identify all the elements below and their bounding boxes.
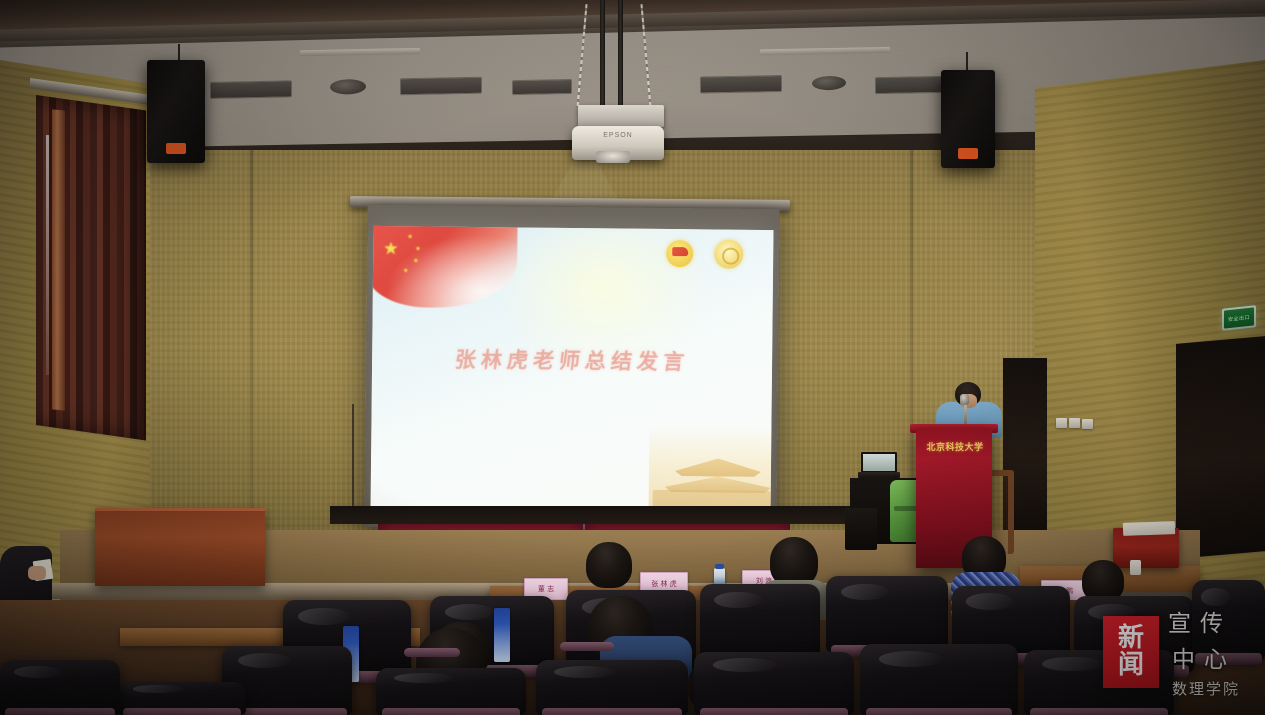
seat-armrest (404, 648, 460, 657)
ceiling-dome-fixture (812, 76, 846, 91)
flag-star-large: ★ (383, 240, 398, 257)
doorway-right[interactable] (1176, 336, 1265, 559)
seat-highlight (133, 685, 184, 692)
seat-highlight (238, 653, 290, 668)
flag-star-small: ★ (415, 246, 420, 252)
light-switch-plate[interactable] (1082, 419, 1093, 429)
water-bottle-blue (494, 608, 510, 662)
flag-star-small: ★ (413, 258, 418, 264)
seat-highlight (445, 604, 495, 621)
auditorium-seat[interactable] (536, 660, 688, 715)
projector-brand-label: EPSON (586, 131, 650, 140)
emergency-exit-sign: 安全出口 (1222, 305, 1256, 331)
projector-rod (618, 0, 623, 110)
seat-highlight (966, 593, 1013, 609)
microphone-head (960, 394, 969, 405)
gate-roof-upper (675, 458, 761, 477)
light-switch-plate[interactable] (1056, 418, 1067, 428)
tiananmen-gate-graphic (648, 425, 773, 515)
watermark-line-b: 中心 (1172, 640, 1236, 674)
wall-cable (352, 404, 354, 522)
seat-armrest (560, 642, 614, 651)
seat-highlight (14, 666, 62, 678)
laptop-keyboard[interactable] (858, 472, 900, 478)
podium-institution-text: 北京科技大学 (918, 440, 992, 453)
wall-speaker-right (941, 70, 995, 168)
wooden-cabinet (95, 508, 265, 586)
ceiling-light-recess (700, 75, 782, 94)
seat-highlight (298, 608, 349, 625)
jbl-logo (958, 148, 978, 159)
news-seal-watermark: 新 闻 (1103, 616, 1159, 688)
ceiling-light-recess (512, 79, 572, 95)
stage-front-shadow (330, 506, 850, 524)
seat-highlight (713, 658, 777, 672)
auditorium-seat[interactable] (826, 576, 948, 652)
auditorium-seat[interactable] (0, 660, 120, 715)
flag-star-small: ★ (403, 268, 408, 274)
seat-highlight (1201, 588, 1230, 606)
seat-highlight (841, 584, 890, 601)
auditorium-seat[interactable] (376, 668, 526, 715)
audience-head (586, 542, 632, 588)
curtain-support-pole (52, 109, 65, 410)
seal-char-bottom: 闻 (1118, 652, 1144, 679)
communist-youth-league-badge-icon (666, 240, 693, 267)
speaker-cable (966, 52, 968, 72)
ceiling-strip-light (760, 47, 890, 55)
watermark-line-a: 宣传 (1168, 604, 1232, 638)
papers-on-box (1123, 521, 1175, 536)
flag-star-small: ★ (407, 234, 412, 240)
wall-speaker-left (147, 60, 205, 163)
ceiling-dome-fixture (330, 79, 366, 95)
auditorium-seat[interactable] (118, 682, 246, 715)
watermark-line-c: 数理学院 (1172, 678, 1240, 699)
paper-cup (1130, 560, 1141, 575)
seat-highlight (714, 592, 762, 609)
seat-highlight (879, 651, 942, 667)
projector-ceiling-mount (578, 105, 664, 127)
university-emblem-icon (714, 239, 743, 268)
seat-highlight (554, 666, 615, 678)
projection-screen: ★ ★ ★ ★ ★ 张林虎老师总结发言 (371, 226, 774, 515)
slide-title-text: 张林虎老师总结发言 (371, 343, 774, 377)
seat-highlight (1042, 657, 1102, 671)
light-switch-plate[interactable] (1069, 418, 1080, 428)
ceiling-strip-light (300, 48, 420, 56)
lecture-hall-photo: EPSON ★ ★ ★ ★ ★ 张林虎老师总结发言 安全出口 (0, 0, 1265, 715)
projector-lens (596, 151, 630, 163)
bottle-cap (715, 564, 724, 569)
curtain-pole-highlight (46, 135, 49, 375)
auditorium-seat[interactable] (700, 584, 820, 660)
ceiling-light-recess (400, 77, 482, 96)
seat-highlight (394, 673, 454, 683)
jbl-logo (166, 143, 186, 154)
projector-rod (600, 0, 605, 110)
auditorium-seat[interactable] (694, 652, 854, 715)
person-hand (28, 566, 46, 580)
laptop-screen[interactable] (861, 452, 897, 473)
auditorium-seat[interactable] (860, 644, 1018, 715)
ceiling-light-recess (210, 80, 292, 99)
seal-char-top: 新 (1118, 625, 1144, 652)
av-amplifier-box (845, 508, 877, 550)
exit-sign-label: 安全出口 (1224, 307, 1254, 328)
